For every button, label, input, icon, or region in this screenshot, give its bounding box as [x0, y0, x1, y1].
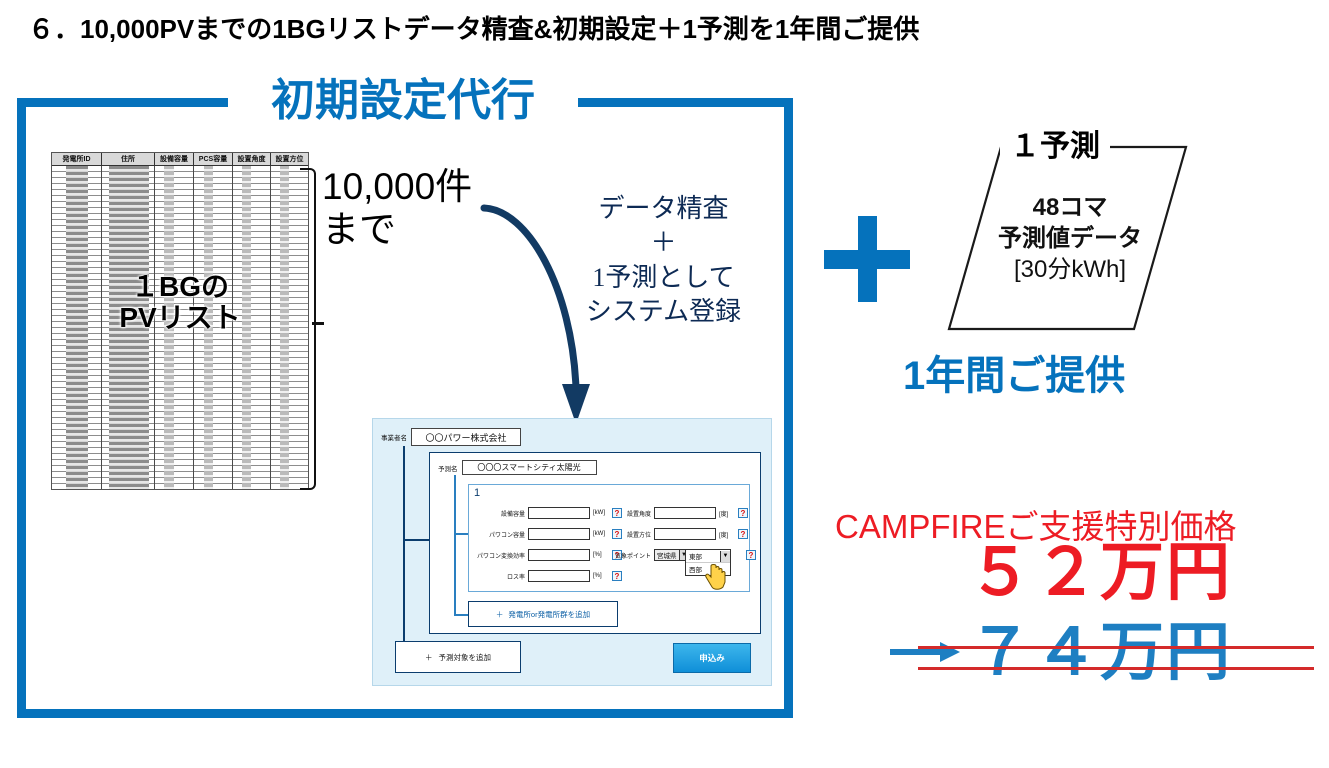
service-frame-header: 初期設定代行 — [228, 72, 578, 130]
field-capacity-input[interactable] — [528, 507, 590, 519]
add-plant-button-label: 発電所or発電所群を追加 — [508, 609, 590, 620]
column-header-tilt-angle: 設置角度 — [233, 153, 271, 165]
pv-list-overlay-line1: １BGの — [52, 271, 308, 302]
pv-list-spreadsheet: 発電所ID 住所 設備容量 PCS容量 設置角度 設置方位 １BGの PVリスト — [51, 152, 309, 490]
special-price: ５２万円 — [968, 540, 1232, 604]
add-plant-plus-icon: ＋ — [496, 609, 504, 620]
column-header-address: 住所 — [102, 153, 155, 165]
strikethrough-line-2 — [918, 667, 1314, 670]
business-name-input[interactable]: 〇〇パワー株式会社 — [411, 428, 521, 446]
row-capacity-annotation: 10,000件 まで — [322, 166, 472, 251]
field-capacity-label: 設備容量 — [479, 509, 525, 518]
column-header-pcs-capacity: PCS容量 — [194, 153, 233, 165]
business-name-label: 事業者名 — [381, 432, 407, 442]
original-price-row: ７４万円 — [888, 620, 1232, 684]
service-frame-header-label: 初期設定代行 — [271, 79, 535, 123]
help-icon-azimuth[interactable]: ? — [738, 529, 748, 539]
plus-symbol-icon — [824, 216, 910, 302]
weather-prefecture-value: 宮城県 — [655, 550, 679, 560]
field-azimuth-input[interactable] — [654, 528, 716, 540]
original-price: ７４万円 — [968, 620, 1232, 684]
field-loss-rate-unit: [%] — [593, 573, 609, 579]
forecast-card-line1: 48コマ — [965, 192, 1175, 223]
pv-list-overlay-line2: PVリスト — [52, 302, 308, 333]
submit-application-button[interactable]: 申込み — [673, 643, 751, 673]
strikethrough-line-1 — [918, 646, 1314, 649]
row-capacity-line2: まで — [322, 209, 472, 252]
field-pcs-capacity-label: パワコン容量 — [479, 530, 525, 539]
add-target-plus-icon: ＋ — [425, 652, 433, 663]
spreadsheet-header-row: 発電所ID 住所 設備容量 PCS容量 設置角度 設置方位 — [52, 153, 308, 166]
forecast-name-row: 予測名 〇〇〇スマートシティ太陽光 — [438, 460, 597, 475]
subtree-trunk-line — [454, 475, 456, 615]
field-pcs-capacity-input[interactable] — [528, 528, 590, 540]
weather-area-option-east[interactable]: 東部 — [686, 550, 720, 562]
tree-trunk-line — [403, 446, 405, 658]
column-header-azimuth: 設置方位 — [271, 153, 308, 165]
pv-list-overlay-label: １BGの PVリスト — [52, 271, 308, 334]
hand-cursor-icon — [704, 563, 730, 591]
column-header-capacity: 設備容量 — [155, 153, 194, 165]
field-azimuth: 設置方位 [度] ? — [615, 528, 748, 540]
chevron-down-icon-area[interactable]: ▼ — [720, 551, 730, 562]
field-pcs-efficiency-label: パワコン変換効率 — [473, 551, 525, 560]
forecast-card-line3: [30分kWh] — [965, 254, 1175, 285]
forecast-card-line2: 予測値データ — [965, 223, 1175, 254]
field-tilt-angle-unit: [度] — [719, 509, 735, 518]
field-tilt-angle-input[interactable] — [654, 507, 716, 519]
add-plant-button[interactable]: ＋ 発電所or発電所群を追加 — [468, 601, 618, 627]
field-tilt-angle-label: 設置角度 — [615, 509, 651, 518]
tree-branch-line-1 — [403, 539, 429, 541]
application-screenshot: 事業者名 〇〇パワー株式会社 予測名 〇〇〇スマートシティ太陽光 1 設備容量 … — [372, 418, 772, 686]
field-loss-rate-input[interactable] — [528, 570, 590, 582]
column-header-plant-id: 発電所ID — [52, 153, 102, 165]
field-tilt-angle: 設置角度 [度] ? — [615, 507, 748, 519]
add-target-button-label: 予測対象を追加 — [439, 652, 492, 663]
row-range-brace-tip — [312, 322, 324, 325]
help-icon-loss-rate[interactable]: ? — [612, 571, 622, 581]
row-capacity-line1: 10,000件 — [322, 166, 472, 209]
help-icon-weather-point[interactable]: ? — [746, 550, 756, 560]
help-icon-tilt-angle[interactable]: ? — [738, 508, 748, 518]
field-pcs-efficiency-input[interactable] — [528, 549, 590, 561]
field-capacity: 設備容量 [kW] ? — [479, 507, 622, 519]
field-weather-point-label: 気象ポイント — [597, 551, 651, 560]
plant-unit-panel: 1 設備容量 [kW] ? パワコン容量 [kW] ? パワコン変換効率 [%]… — [468, 484, 750, 592]
field-azimuth-label: 設置方位 — [615, 530, 651, 539]
page-title: ６．10,000PVまでの1BGリストデータ精査&初期設定＋1予測を1年間ご提供 — [28, 9, 919, 46]
plant-unit-index: 1 — [474, 487, 480, 499]
field-pcs-capacity-unit: [kW] — [593, 531, 609, 537]
field-pcs-capacity: パワコン容量 [kW] ? — [479, 528, 622, 540]
field-loss-rate-label: ロス率 — [479, 572, 525, 581]
curved-flow-arrow-icon — [476, 196, 616, 428]
forecast-card-title: １予測 — [1000, 121, 1110, 165]
forecast-name-label: 予測名 — [438, 463, 458, 473]
original-price-text: ７４万円 — [968, 616, 1232, 688]
provision-period-label: 1年間ご提供 — [903, 343, 1125, 401]
field-capacity-unit: [kW] — [593, 510, 609, 516]
forecast-card-body: 48コマ 予測値データ [30分kWh] — [965, 192, 1175, 286]
right-arrow-icon — [888, 637, 962, 667]
forecast-name-input[interactable]: 〇〇〇スマートシティ太陽光 — [462, 460, 597, 475]
field-loss-rate: ロス率 [%] ? — [479, 570, 622, 582]
field-weather-point: 気象ポイント 宮城県 ▼ ? — [597, 549, 756, 561]
business-name-row: 事業者名 〇〇パワー株式会社 — [381, 428, 521, 446]
field-azimuth-unit: [度] — [719, 530, 735, 539]
add-forecast-target-button[interactable]: ＋ 予測対象を追加 — [395, 641, 521, 673]
forecast-target-panel: 予測名 〇〇〇スマートシティ太陽光 1 設備容量 [kW] ? パワコン容量 [… — [429, 452, 761, 634]
